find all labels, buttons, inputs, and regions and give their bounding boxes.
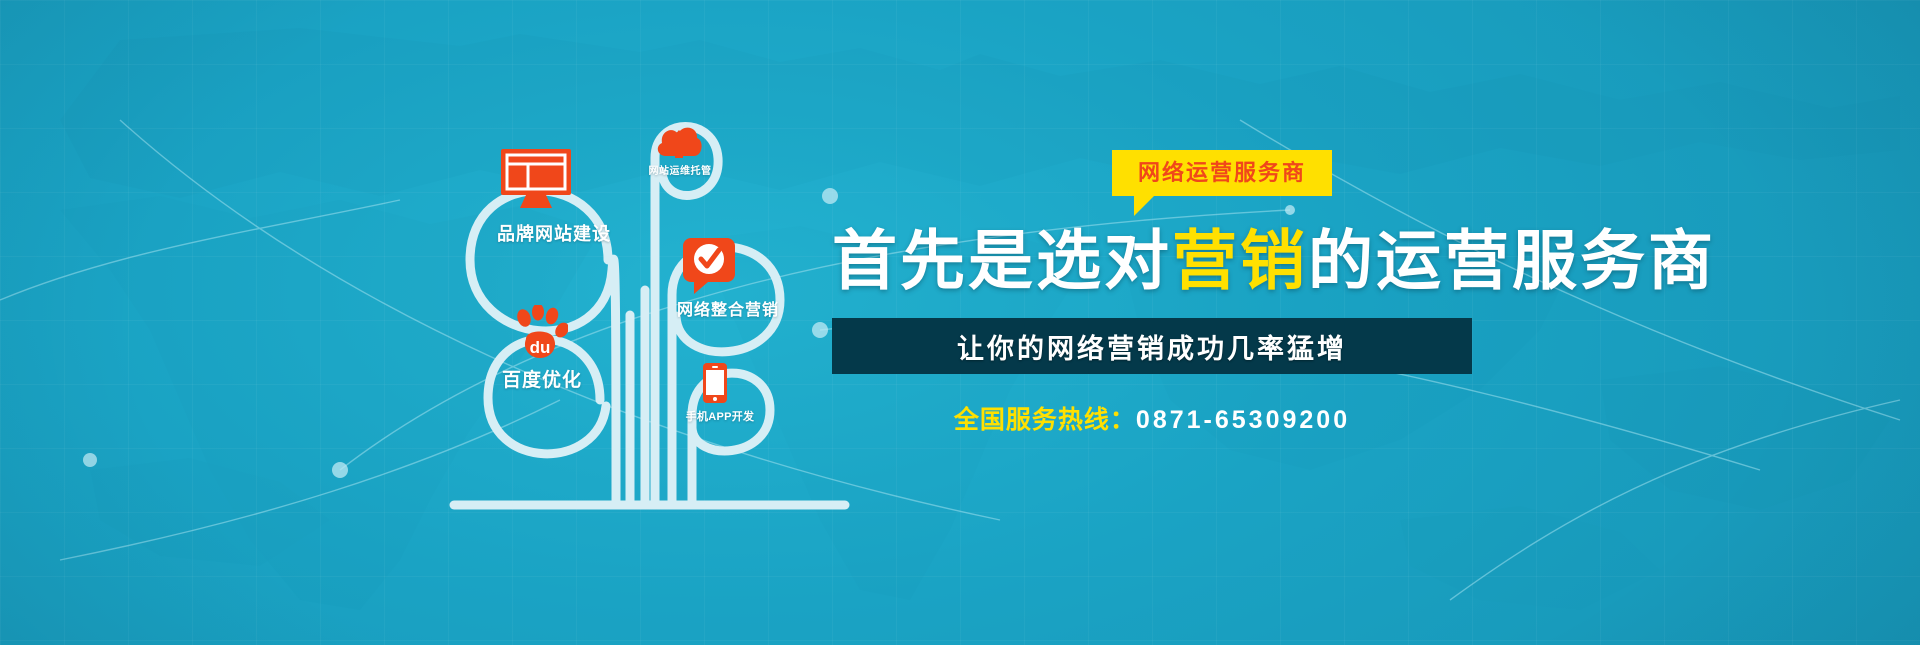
tree-node-label-baidu-seo: 百度优化 bbox=[462, 365, 622, 392]
cloud-upload-icon bbox=[653, 118, 705, 160]
smartphone-icon bbox=[702, 362, 728, 404]
subtitle-bar: 让你的网络营销成功几率猛增 bbox=[832, 318, 1472, 374]
subtitle-text: 让你的网络营销成功几率猛增 bbox=[957, 327, 1347, 366]
services-tree-graphic: 品牌网站建设 du 百度优化 网站运维托管 bbox=[440, 110, 860, 540]
hotline-label: 全国服务热线： bbox=[954, 406, 1136, 434]
headline-part1: 首先是选对 bbox=[832, 224, 1172, 297]
headline: 首先是选对营销的运营服务商 bbox=[832, 226, 1832, 296]
banner-content: 网络运营服务商 首先是选对营销的运营服务商 让你的网络营销成功几率猛增 全国服务… bbox=[832, 150, 1832, 436]
tree-node-label-integrated-marketing: 网络整合营销 bbox=[658, 296, 798, 320]
hotline-number: 0871-65309200 bbox=[1136, 406, 1350, 434]
baidu-paw-icon: du bbox=[512, 305, 568, 361]
tree-node-label-brand-website: 品牌网站建设 bbox=[434, 220, 674, 246]
check-bubble-icon bbox=[682, 237, 740, 295]
service-badge: 网络运营服务商 bbox=[1112, 150, 1332, 196]
headline-highlight: 营销 bbox=[1172, 224, 1308, 297]
headline-part2: 的运营服务商 bbox=[1308, 224, 1716, 297]
tree-node-label-app-dev: 手机APP开发 bbox=[670, 408, 770, 424]
hotline: 全国服务热线：0871-65309200 bbox=[832, 400, 1472, 436]
svg-text:du: du bbox=[530, 338, 551, 357]
service-badge-text: 网络运营服务商 bbox=[1138, 160, 1306, 185]
tree-node-label-site-hosting: 网站运维托管 bbox=[625, 162, 735, 177]
monitor-icon bbox=[500, 148, 572, 210]
promo-banner: 品牌网站建设 du 百度优化 网站运维托管 bbox=[0, 0, 1920, 645]
